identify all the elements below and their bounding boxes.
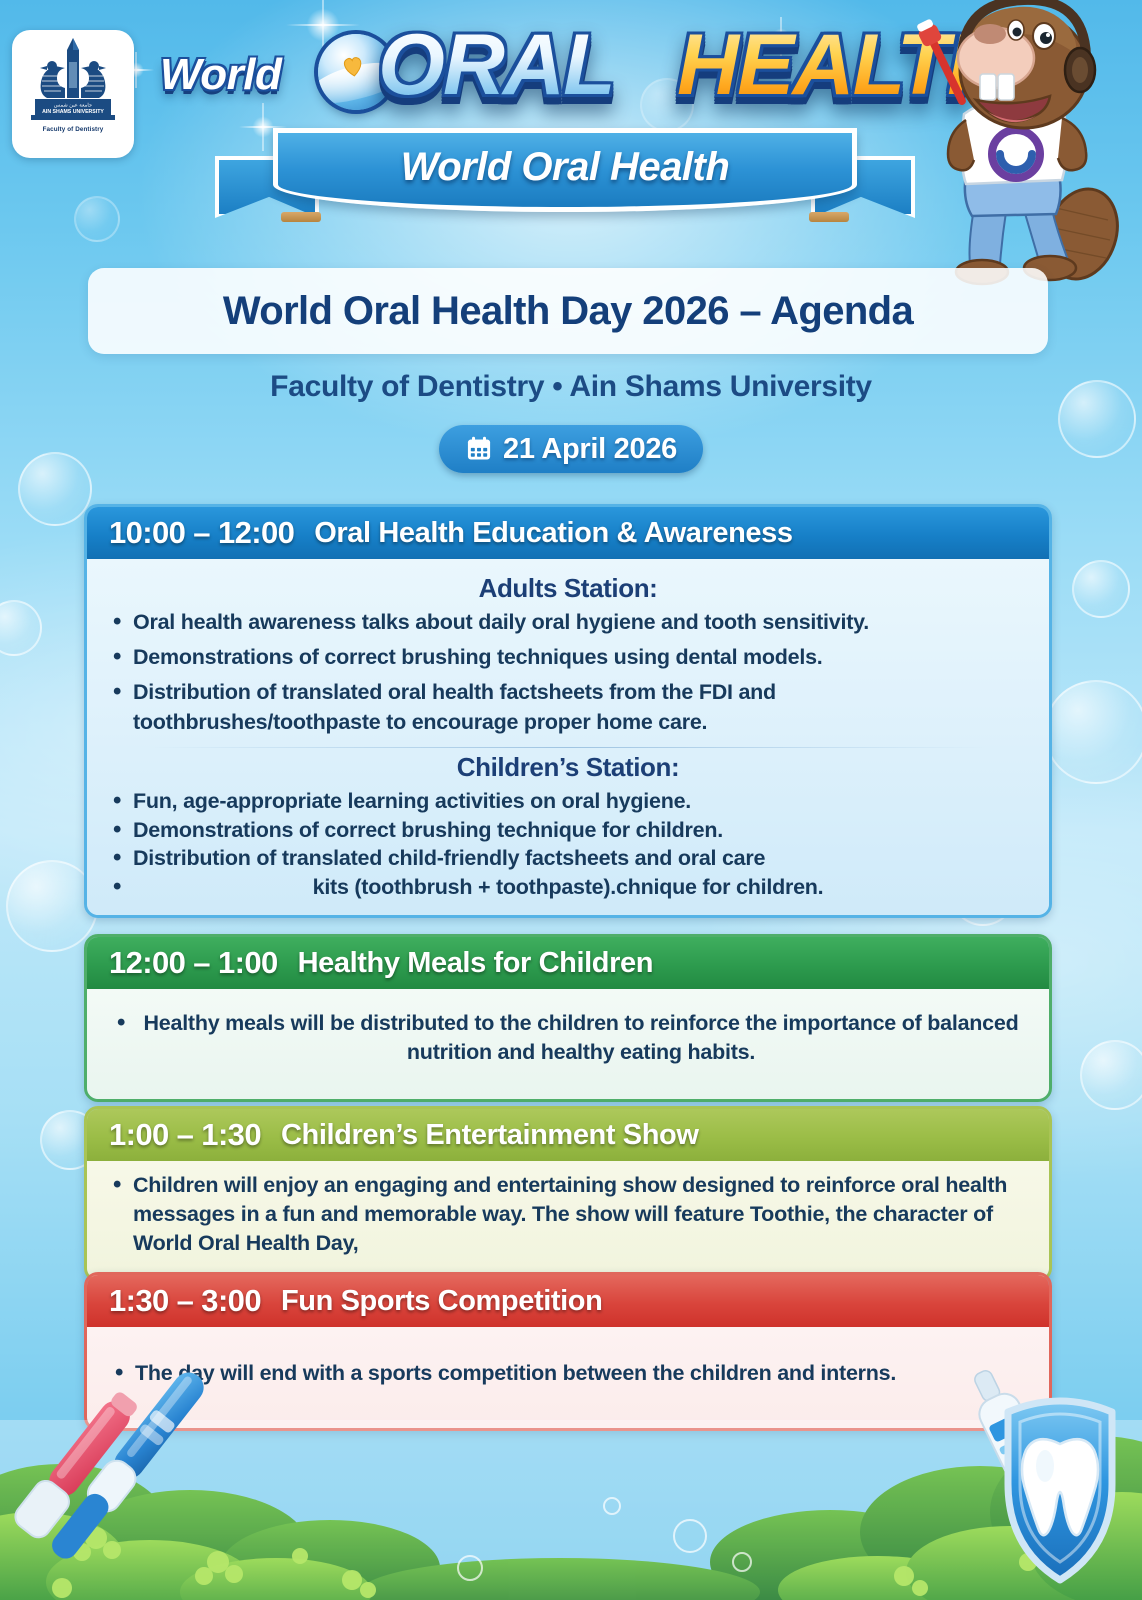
bubble-decor bbox=[18, 452, 92, 526]
session-header: 12:00 – 1:00 Healthy Meals for Children bbox=[87, 937, 1049, 989]
list-item: Fun, age-appropriate learning activities… bbox=[107, 787, 1029, 816]
children-station-list: Fun, age-appropriate learning activities… bbox=[107, 787, 1029, 901]
bubble-decor bbox=[1044, 680, 1142, 784]
page-title-card: World Oral Health Day 2026 – Agenda bbox=[88, 268, 1048, 354]
station-heading-children: Children’s Station: bbox=[107, 752, 1029, 783]
ribbon-banner: World Oral Health bbox=[215, 128, 915, 232]
page-subtitle: Faculty of Dentistry • Ain Shams Univers… bbox=[0, 370, 1142, 404]
masthead-logotype: World ORAL HEALTH bbox=[150, 14, 950, 126]
list-item: Distribution of translated child-friendl… bbox=[107, 844, 1029, 873]
session-time: 10:00 – 12:00 bbox=[109, 515, 294, 551]
session-block-1: 10:00 – 12:00 Oral Health Education & Aw… bbox=[84, 504, 1052, 918]
session-4-list: The day will end with a sports competiti… bbox=[109, 1359, 1029, 1388]
session-3-list: Children will enjoy an engaging and ente… bbox=[107, 1171, 1029, 1259]
session-block-3: 1:00 – 1:30 Children’s Entertainment Sho… bbox=[84, 1106, 1052, 1282]
session-body: Children will enjoy an engaging and ente… bbox=[87, 1161, 1049, 1279]
list-item: The day will end with a sports competiti… bbox=[109, 1359, 1029, 1388]
mascot-toothie-beaver bbox=[904, 0, 1134, 286]
session-title: Oral Health Education & Awareness bbox=[314, 517, 792, 550]
session-body: Healthy meals will be distributed to the… bbox=[87, 989, 1049, 1099]
session-time: 12:00 – 1:00 bbox=[109, 945, 278, 981]
session-header: 1:30 – 3:00 Fun Sports Competition bbox=[87, 1275, 1049, 1327]
calendar-icon bbox=[465, 435, 493, 463]
ribbon-body: World Oral Health bbox=[273, 128, 857, 212]
session-title: Children’s Entertainment Show bbox=[281, 1119, 699, 1152]
session-block-2: 12:00 – 1:00 Healthy Meals for Children … bbox=[84, 934, 1052, 1102]
session-header: 1:00 – 1:30 Children’s Entertainment Sho… bbox=[87, 1109, 1049, 1161]
logo-word-oral: ORAL bbox=[378, 22, 614, 108]
ribbon-text: World Oral Health bbox=[401, 145, 730, 190]
date-label: 21 April 2026 bbox=[503, 433, 677, 466]
session-title: Healthy Meals for Children bbox=[298, 947, 653, 980]
session-title: Fun Sports Competition bbox=[281, 1285, 602, 1318]
bubble-decor bbox=[1080, 1040, 1142, 1110]
logo-word-world: World bbox=[160, 50, 281, 100]
section-divider bbox=[147, 747, 989, 748]
bubble-decor bbox=[1072, 560, 1130, 618]
list-item-continuation: kits (toothbrush + toothpaste).chnique f… bbox=[107, 873, 1029, 902]
list-item: Oral health awareness talks about daily … bbox=[107, 608, 1029, 637]
station-heading-adults: Adults Station: bbox=[107, 573, 1029, 604]
svg-text:جامعة عين شمس: جامعة عين شمس bbox=[54, 103, 92, 109]
svg-text:AIN SHAMS UNIVERSITY: AIN SHAMS UNIVERSITY bbox=[42, 109, 104, 115]
bubble-decor bbox=[0, 600, 42, 656]
session-time: 1:00 – 1:30 bbox=[109, 1117, 261, 1153]
faculty-label: Faculty of Dentistry bbox=[43, 126, 104, 133]
session-time: 1:30 – 3:00 bbox=[109, 1283, 261, 1319]
list-item: Demonstrations of correct brushing techn… bbox=[107, 643, 1029, 672]
session-2-list: Healthy meals will be distributed to the… bbox=[111, 1009, 1025, 1067]
poster-canvas: جامعة عين شمس AIN SHAMS UNIVERSITY Facul… bbox=[0, 0, 1142, 1600]
list-item: Children will enjoy an engaging and ente… bbox=[107, 1171, 1029, 1259]
session-header: 10:00 – 12:00 Oral Health Education & Aw… bbox=[87, 507, 1049, 559]
list-item: Demonstrations of correct brushing techn… bbox=[107, 816, 1029, 845]
adults-station-list: Oral health awareness talks about daily … bbox=[107, 608, 1029, 737]
university-logo: جامعة عين شمس AIN SHAMS UNIVERSITY Facul… bbox=[12, 30, 134, 158]
list-item: Healthy meals will be distributed to the… bbox=[111, 1009, 1025, 1067]
list-item: Distribution of translated oral health f… bbox=[107, 678, 1029, 736]
page-title: World Oral Health Day 2026 – Agenda bbox=[223, 289, 913, 334]
session-body: Adults Station: Oral health awareness ta… bbox=[87, 559, 1049, 915]
date-badge: 21 April 2026 bbox=[439, 425, 703, 473]
bubble-decor bbox=[74, 196, 120, 242]
session-block-4: 1:30 – 3:00 Fun Sports Competition The d… bbox=[84, 1272, 1052, 1431]
session-body: The day will end with a sports competiti… bbox=[87, 1327, 1049, 1428]
